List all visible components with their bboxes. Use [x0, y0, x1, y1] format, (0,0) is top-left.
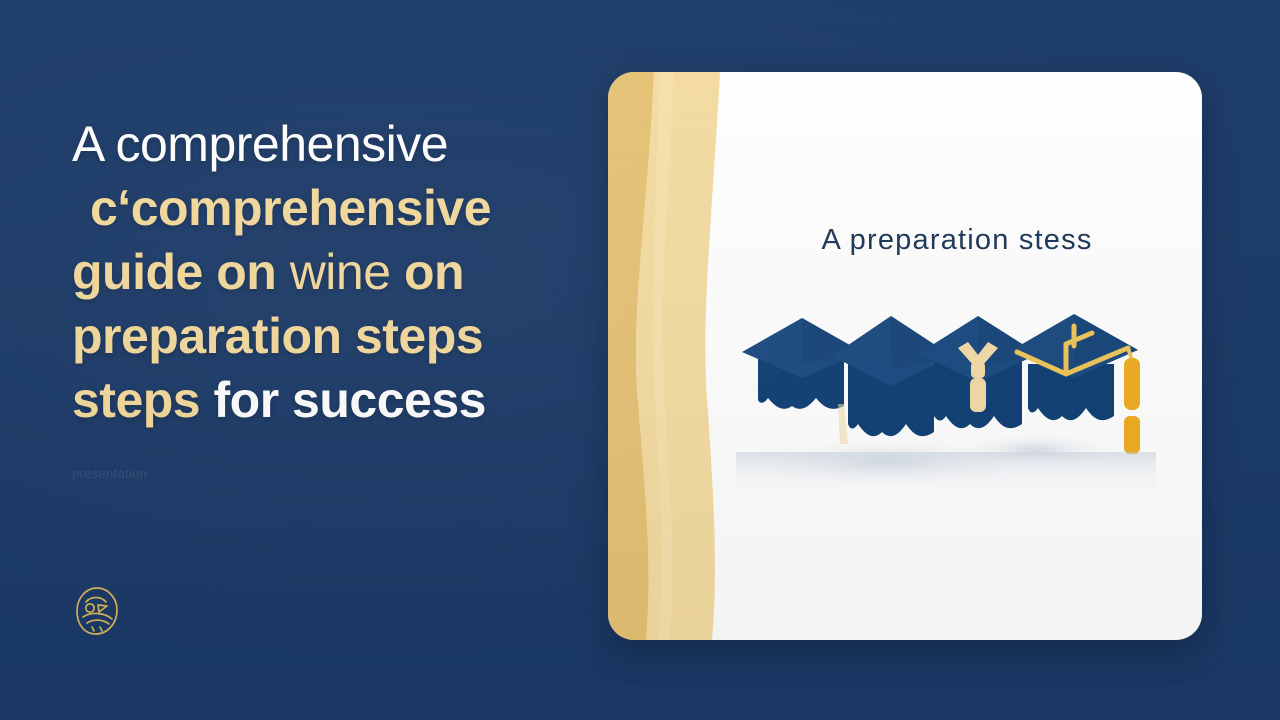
headline-line-3: guide on wine on: [72, 240, 592, 304]
owl-bird-logo: [74, 586, 120, 636]
headline-line-2: c‘comprehensive: [72, 176, 592, 240]
gold-ribbon-curtain: [608, 72, 738, 640]
headline-pane: A comprehensive c‘comprehensive guide on…: [0, 0, 600, 720]
headline-line-5: steps for success: [72, 368, 592, 432]
graduation-caps-illustration: [736, 312, 1156, 512]
headline-line-5-part-2: for success: [214, 372, 486, 428]
headline-line-3-part-3: on: [404, 244, 464, 300]
hanging-tassel: [1124, 348, 1140, 454]
slide-canvas: A comprehensive c‘comprehensive guide on…: [0, 0, 1280, 720]
headline-line-4: preparation steps: [72, 304, 592, 368]
illustration-card: A preparation stess: [608, 72, 1202, 640]
graduation-cap-1: [742, 318, 862, 444]
page-title: A comprehensive c‘comprehensive guide on…: [72, 112, 592, 432]
sub-caption: presentation: [72, 466, 147, 481]
headline-line-5-part-1: steps: [72, 372, 214, 428]
headline-line-3-part-2: wine: [290, 244, 404, 300]
headline-line-3-part-1: guide on: [72, 244, 290, 300]
graduation-cap-3: [918, 316, 1038, 428]
headline-line-1: A comprehensive: [72, 112, 592, 176]
card-title: A preparation stess: [608, 224, 1202, 257]
